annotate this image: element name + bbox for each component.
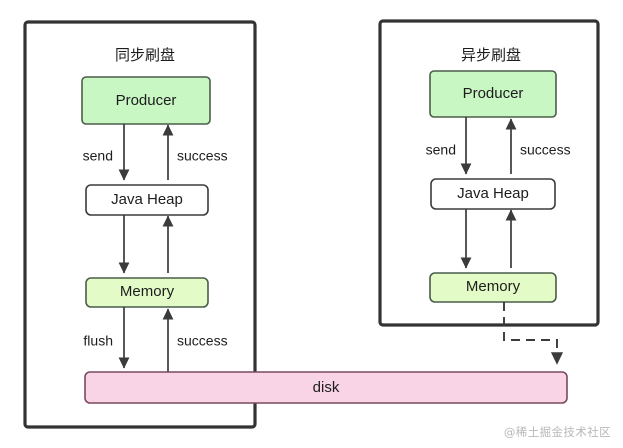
edge-sync-send-label: send xyxy=(83,148,113,164)
node-async-java-heap-label: Java Heap xyxy=(457,185,529,202)
panel-sync-title: 同步刷盘 xyxy=(115,46,175,64)
edge-sync-success-disk-label: success xyxy=(177,333,228,349)
panel-async-title: 异步刷盘 xyxy=(461,46,521,64)
panel-sync: 同步刷盘 Producer send success Java Heap Mem… xyxy=(25,22,255,427)
edge-sync-success-heap-label: success xyxy=(177,148,228,164)
node-async-producer-label: Producer xyxy=(463,85,524,102)
watermark: @稀土掘金技术社区 xyxy=(504,424,611,440)
node-async-memory-label: Memory xyxy=(466,278,521,295)
flush-disk-diagram: 同步刷盘 Producer send success Java Heap Mem… xyxy=(0,0,623,448)
node-disk-label: disk xyxy=(313,379,340,396)
diagram-canvas: 同步刷盘 Producer send success Java Heap Mem… xyxy=(0,0,623,448)
edge-async-send-label: send xyxy=(426,142,456,158)
node-sync-java-heap-label: Java Heap xyxy=(111,191,183,208)
node-sync-producer-label: Producer xyxy=(116,92,177,109)
node-sync-memory-label: Memory xyxy=(120,283,175,300)
edge-async-success-heap-label: success xyxy=(520,142,571,158)
edge-sync-flush-label: flush xyxy=(83,333,113,349)
panel-async: 异步刷盘 Producer send success Java Heap Mem… xyxy=(380,21,598,364)
disk-bar-group: disk xyxy=(85,372,567,403)
